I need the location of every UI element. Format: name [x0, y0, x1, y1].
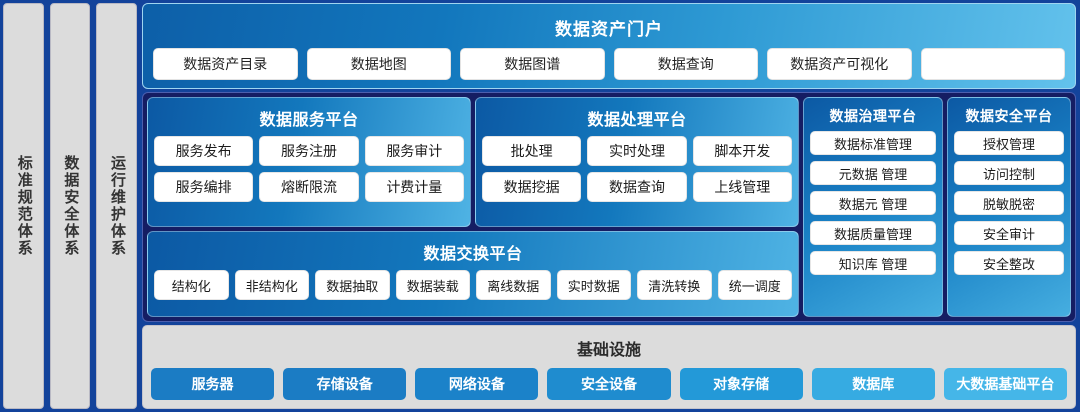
governance-platform-chips: 数据标准管理 元数据 管理 数据元 管理 数据质量管理 知识库 管理	[810, 131, 936, 310]
infra-chip-security-device[interactable]: 安全设备	[547, 368, 670, 400]
chip-cleansing-transform[interactable]: 清洗转换	[637, 270, 712, 300]
chip-offline-data[interactable]: 离线数据	[476, 270, 551, 300]
chip-unified-scheduling[interactable]: 统一调度	[718, 270, 793, 300]
platform-container: 数据服务平台 服务发布 服务注册 服务审计 服务编排 熔断限流 计费计量	[142, 92, 1076, 322]
chip-desensitization[interactable]: 脱敏脱密	[954, 191, 1064, 215]
chip-data-loading[interactable]: 数据装载	[396, 270, 471, 300]
panel-title: 数据服务平台	[154, 106, 464, 130]
data-security-platform-panel: 数据安全平台 授权管理 访问控制 脱敏脱密 安全审计 安全整改	[947, 97, 1071, 317]
portal-chip-asset-catalog[interactable]: 数据资产目录	[153, 48, 298, 80]
chip-service-audit[interactable]: 服务审计	[365, 136, 464, 166]
data-asset-portal-panel: 数据资产门户 数据资产目录 数据地图 数据图谱 数据查询 数据资产可视化	[142, 3, 1076, 89]
infrastructure-chip-row: 服务器 存储设备 网络设备 安全设备 对象存储 数据库 大数据基础平台	[151, 368, 1067, 400]
panel-title: 数据交换平台	[154, 240, 792, 264]
chip-security-audit[interactable]: 安全审计	[954, 221, 1064, 245]
service-platform-chips: 服务发布 服务注册 服务审计 服务编排 熔断限流 计费计量	[154, 136, 464, 220]
chip-release-management[interactable]: 上线管理	[693, 172, 792, 202]
portal-chip-data-query[interactable]: 数据查询	[614, 48, 759, 80]
chip-script-development[interactable]: 脚本开发	[693, 136, 792, 166]
platform-upper-region: 数据服务平台 服务发布 服务注册 服务审计 服务编排 熔断限流 计费计量	[147, 97, 1071, 317]
sidebar-item-label: 运行维护体系	[107, 155, 126, 257]
security-platform-chips: 授权管理 访问控制 脱敏脱密 安全审计 安全整改	[954, 131, 1064, 310]
architecture-diagram: 标准规范体系 数据安全体系 运行维护体系 数据资产门户 数据资产目录 数据地图 …	[0, 0, 1080, 412]
chip-structured[interactable]: 结构化	[154, 270, 229, 300]
data-exchange-platform-panel: 数据交换平台 结构化 非结构化 数据抽取 数据装载 离线数据 实时数据 清洗转换…	[147, 231, 799, 317]
sidebar-item-standards-system[interactable]: 标准规范体系	[3, 3, 44, 409]
chip-realtime-data[interactable]: 实时数据	[557, 270, 632, 300]
infrastructure-panel: 基础设施 服务器 存储设备 网络设备 安全设备 对象存储 数据库 大数据基础平台	[142, 325, 1076, 409]
chip-batch-processing[interactable]: 批处理	[482, 136, 581, 166]
sidebar-item-operations-maintenance-system[interactable]: 运行维护体系	[96, 3, 137, 409]
chip-data-query[interactable]: 数据查询	[587, 172, 686, 202]
sidebar-item-label: 标准规范体系	[14, 155, 33, 257]
chip-service-orchestration[interactable]: 服务编排	[154, 172, 253, 202]
chip-data-mining[interactable]: 数据挖据	[482, 172, 581, 202]
chip-data-extraction[interactable]: 数据抽取	[315, 270, 390, 300]
sidebar-item-data-security-system[interactable]: 数据安全体系	[50, 3, 91, 409]
infra-chip-bigdata-platform[interactable]: 大数据基础平台	[944, 368, 1067, 400]
chip-service-register[interactable]: 服务注册	[259, 136, 358, 166]
chip-unstructured[interactable]: 非结构化	[235, 270, 310, 300]
main-stack: 数据资产门户 数据资产目录 数据地图 数据图谱 数据查询 数据资产可视化 数据服…	[140, 0, 1080, 412]
infra-chip-network-device[interactable]: 网络设备	[415, 368, 538, 400]
infra-chip-server[interactable]: 服务器	[151, 368, 274, 400]
chip-data-quality-management[interactable]: 数据质量管理	[810, 221, 936, 245]
panel-title: 数据安全平台	[954, 106, 1064, 126]
chip-security-rectification[interactable]: 安全整改	[954, 251, 1064, 275]
portal-chip-asset-visualization[interactable]: 数据资产可视化	[767, 48, 912, 80]
processing-platform-chips: 批处理 实时处理 脚本开发 数据挖据 数据查询 上线管理	[482, 136, 792, 220]
chip-circuit-breaker[interactable]: 熔断限流	[259, 172, 358, 202]
chip-service-publish[interactable]: 服务发布	[154, 136, 253, 166]
data-service-platform-panel: 数据服务平台 服务发布 服务注册 服务审计 服务编排 熔断限流 计费计量	[147, 97, 471, 227]
platform-top-row: 数据服务平台 服务发布 服务注册 服务审计 服务编排 熔断限流 计费计量	[147, 97, 799, 227]
chip-authorization-management[interactable]: 授权管理	[954, 131, 1064, 155]
chip-data-element-management[interactable]: 数据元 管理	[810, 191, 936, 215]
infra-chip-object-storage[interactable]: 对象存储	[680, 368, 803, 400]
infra-chip-database[interactable]: 数据库	[812, 368, 935, 400]
chip-data-standard-management[interactable]: 数据标准管理	[810, 131, 936, 155]
sidebar-item-label: 数据安全体系	[61, 155, 80, 257]
infra-chip-storage-device[interactable]: 存储设备	[283, 368, 406, 400]
chip-realtime-processing[interactable]: 实时处理	[587, 136, 686, 166]
portal-chip-data-map[interactable]: 数据地图	[307, 48, 452, 80]
chip-knowledge-base-management[interactable]: 知识库 管理	[810, 251, 936, 275]
infrastructure-title: 基础设施	[151, 336, 1067, 360]
chip-access-control[interactable]: 访问控制	[954, 161, 1064, 185]
data-governance-platform-panel: 数据治理平台 数据标准管理 元数据 管理 数据元 管理 数据质量管理 知识库 管…	[803, 97, 943, 317]
portal-chip-data-graph[interactable]: 数据图谱	[460, 48, 605, 80]
chip-billing-metering[interactable]: 计费计量	[365, 172, 464, 202]
portal-chip-row: 数据资产目录 数据地图 数据图谱 数据查询 数据资产可视化	[153, 48, 1065, 80]
exchange-platform-chips: 结构化 非结构化 数据抽取 数据装载 离线数据 实时数据 清洗转换 统一调度	[154, 270, 792, 310]
data-processing-platform-panel: 数据处理平台 批处理 实时处理 脚本开发 数据挖据 数据查询 上线管理	[475, 97, 799, 227]
panel-title: 数据处理平台	[482, 106, 792, 130]
vertical-systems-sidebar: 标准规范体系 数据安全体系 运行维护体系	[0, 0, 140, 412]
portal-chip-empty[interactable]	[921, 48, 1066, 80]
platform-left-column: 数据服务平台 服务发布 服务注册 服务审计 服务编排 熔断限流 计费计量	[147, 97, 799, 317]
chip-metadata-management[interactable]: 元数据 管理	[810, 161, 936, 185]
portal-title: 数据资产门户	[153, 15, 1065, 40]
panel-title: 数据治理平台	[810, 106, 936, 126]
